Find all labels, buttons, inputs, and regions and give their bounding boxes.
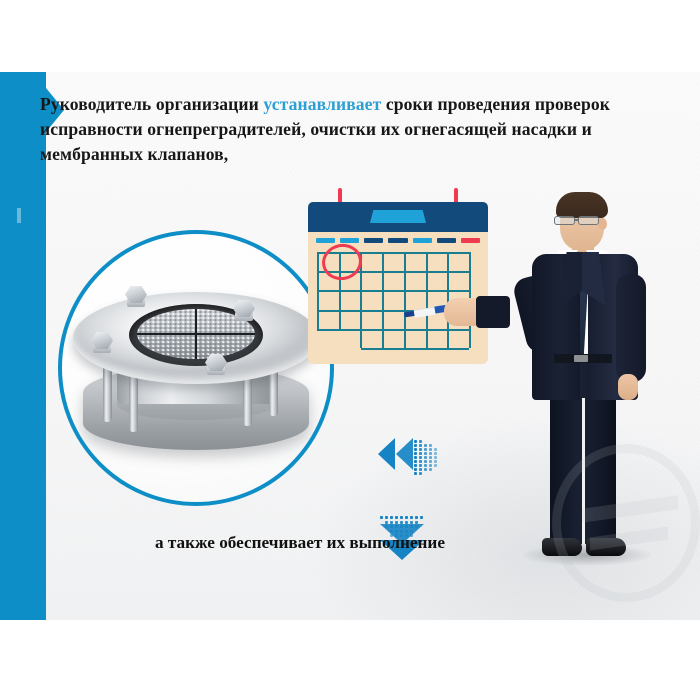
arrow-dot	[429, 448, 432, 451]
page-title: Руководитель организации устанавливает с…	[40, 92, 640, 167]
calendar-weekday-bar-3	[388, 238, 407, 243]
arrow-dot	[415, 521, 418, 524]
arrow-dot	[415, 516, 418, 519]
calendar-grid-column-line	[426, 252, 428, 348]
calendar-weekday-bar-1	[340, 238, 359, 243]
arrow-dot	[424, 448, 427, 451]
device-leg	[129, 374, 138, 432]
arrow-dot	[419, 456, 422, 459]
arrow-dot	[415, 525, 418, 528]
arrow-dot	[429, 444, 432, 447]
device-mesh-divider-horizontal	[137, 333, 255, 335]
calendar-grid-row-line	[361, 348, 469, 350]
calendar-weekday-bar-0	[316, 238, 335, 243]
arrow-dot	[385, 516, 388, 519]
arrow-dot	[419, 444, 422, 447]
device-bolt	[205, 354, 227, 376]
arrow-dot	[414, 452, 417, 455]
device-bolt	[91, 332, 113, 354]
arrow-dot	[414, 456, 417, 459]
arrow-dot	[434, 448, 437, 451]
arrow-dot	[390, 525, 393, 528]
accent-notch-mark	[17, 208, 21, 223]
arrow-dot	[390, 521, 393, 524]
arrow-dot	[400, 516, 403, 519]
arrow-dot	[429, 460, 432, 463]
figure-right-hand	[618, 374, 638, 400]
arrow-dot	[405, 521, 408, 524]
arrow-dot	[385, 521, 388, 524]
device-bolt	[125, 286, 147, 308]
arrow-dot	[410, 525, 413, 528]
arrow-dot	[434, 460, 437, 463]
calendar-title-tab	[370, 210, 426, 223]
arrow-dot	[429, 464, 432, 467]
arrow-dot	[414, 448, 417, 451]
arrow-dot	[420, 516, 423, 519]
flame-arrester-device	[65, 270, 327, 466]
arrow-dot	[419, 448, 422, 451]
arrow-dot	[419, 460, 422, 463]
arrow-dot	[419, 440, 422, 443]
figure-right-arm	[616, 274, 646, 382]
arrow-dot	[395, 525, 398, 528]
arrow-dot	[424, 464, 427, 467]
arrow-dot	[414, 464, 417, 467]
arrow-dot	[395, 521, 398, 524]
calendar-grid-row-line	[317, 290, 469, 292]
arrow-dot	[414, 460, 417, 463]
arrow-dot	[424, 452, 427, 455]
device-leg	[103, 364, 112, 422]
arrow-dot	[385, 525, 388, 528]
arrow-dot	[414, 468, 417, 471]
slide-caption: а также обеспечивает их выполнение	[40, 533, 560, 553]
calendar-weekday-bar-4	[413, 238, 432, 243]
arrow-dot	[414, 444, 417, 447]
arrow-dot	[414, 440, 417, 443]
figure-belt-buckle	[574, 355, 588, 362]
arrow-dot	[414, 472, 417, 475]
calendar-grid-row-line	[317, 329, 469, 331]
arrow-dot	[405, 525, 408, 528]
calendar-grid-column-line	[382, 252, 384, 348]
arrow-dot	[424, 456, 427, 459]
arrow-dot	[419, 452, 422, 455]
arrow-dot	[434, 452, 437, 455]
arrow-dot	[410, 521, 413, 524]
arrow-dot	[424, 468, 427, 471]
arrow-dot	[419, 472, 422, 475]
arrow-dot	[424, 460, 427, 463]
wall-calendar	[308, 188, 488, 370]
arrow-dot	[380, 516, 383, 519]
background-watermark-logo	[552, 444, 700, 602]
arrow-dot	[405, 516, 408, 519]
slide-canvas: Руководитель организации устанавливает с…	[0, 72, 700, 620]
calendar-grid-column-line	[404, 252, 406, 348]
arrow-dot	[434, 464, 437, 467]
calendar-weekday-bars	[316, 238, 480, 243]
figure-hair	[556, 192, 608, 218]
arrow-dot	[419, 468, 422, 471]
arrow-dot	[395, 516, 398, 519]
device-circle-frame	[58, 230, 334, 506]
arrow-dot	[400, 521, 403, 524]
calendar-weekday-bar-2	[364, 238, 383, 243]
arrow-dot	[429, 468, 432, 471]
arrow-dot	[410, 516, 413, 519]
arrow-dot	[419, 464, 422, 467]
arrow-dot	[429, 452, 432, 455]
arrow-dot	[429, 456, 432, 459]
calendar-weekday-bar-5	[437, 238, 456, 243]
device-bolt	[233, 300, 255, 322]
heading-highlight-word: устанавливает	[263, 94, 381, 114]
arrow-dot	[390, 516, 393, 519]
calendar-weekday-bar-6	[461, 238, 480, 243]
arrow-left-chevron-icon	[378, 434, 438, 474]
heading-text-before: Руководитель организации	[40, 94, 263, 114]
arrow-dot	[424, 444, 427, 447]
eyeglasses-icon	[554, 216, 608, 225]
arrow-dot	[434, 456, 437, 459]
arrow-dot	[400, 525, 403, 528]
